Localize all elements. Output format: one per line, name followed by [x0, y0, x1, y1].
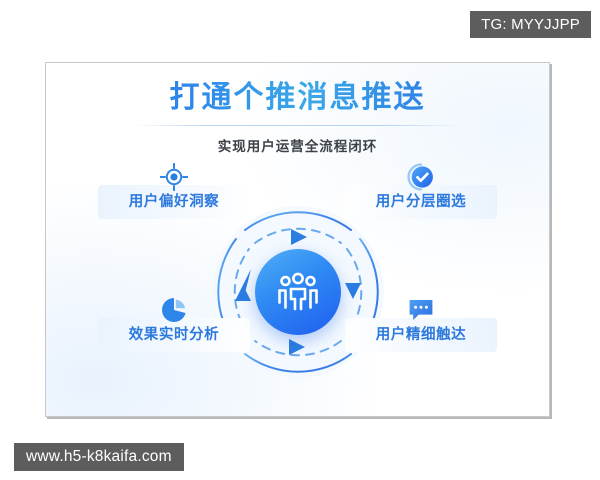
pie-chart-icon — [159, 295, 189, 325]
feature-card-realtime-analysis[interactable]: 效果实时分析 — [98, 318, 250, 352]
cycle-diagram: 用户偏好洞察 用户分层圈选 — [46, 168, 549, 416]
speech-bubble-icon — [406, 295, 436, 325]
title-divider — [133, 125, 463, 126]
infographic-card: 打通个推消息推送 实现用户运营全流程闭环 — [45, 62, 550, 417]
card-header: 打通个推消息推送 实现用户运营全流程闭环 — [46, 81, 549, 155]
feature-label: 用户偏好洞察 — [129, 195, 220, 210]
feature-label: 用户精细触达 — [376, 328, 467, 343]
feature-card-user-segmentation[interactable]: 用户分层圈选 — [345, 185, 497, 219]
center-node — [255, 249, 341, 335]
target-crosshair-icon — [159, 162, 189, 192]
feature-label: 用户分层圈选 — [376, 195, 467, 210]
user-group-icon — [276, 272, 320, 312]
page-title: 打通个推消息推送 — [46, 81, 549, 116]
watermark-bottom-left: www.h5-k8kaifa.com — [14, 443, 184, 471]
feature-card-user-preference-insight[interactable]: 用户偏好洞察 — [98, 185, 250, 219]
watermark-top-right: TG: MYYJJPP — [470, 11, 591, 38]
check-circle-icon — [406, 162, 436, 192]
feature-label: 效果实时分析 — [129, 328, 220, 343]
page-subtitle: 实现用户运营全流程闭环 — [46, 135, 549, 155]
feature-card-precise-reach[interactable]: 用户精细触达 — [345, 318, 497, 352]
